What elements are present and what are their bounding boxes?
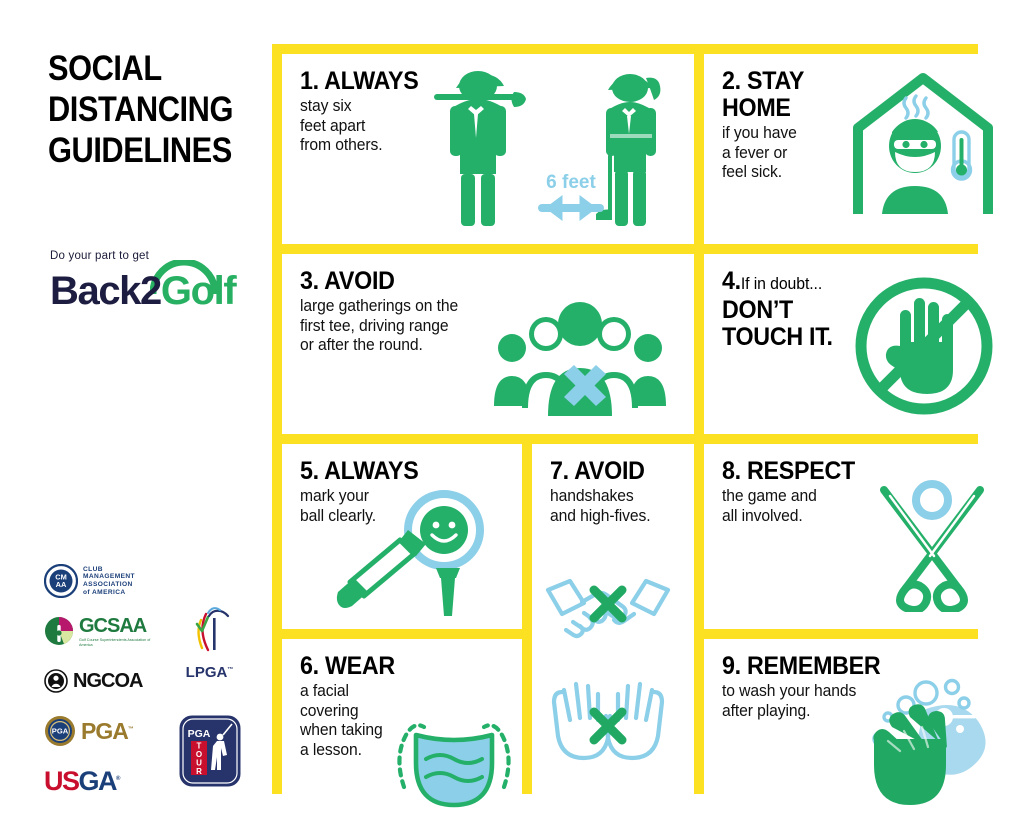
panel-4-heading-line-1: DON’T [722,297,833,324]
panel-9-remember-to-wash-your-hands: 9. REMEMBER to wash your hands after pla… [704,639,1008,834]
svg-text:R: R [196,767,202,776]
gcsaa-mark-icon [44,616,74,646]
usga-name-part2: GA [79,766,117,796]
panel-3-heading: 3. AVOID [300,268,455,295]
panel-8-heading: 8. RESPECT [722,458,855,485]
logo-gcsaa: GCSAA Golf Course Superintendents Associ… [44,612,162,650]
panel-3-body-line-1: large gatherings on the [300,297,458,317]
panel-2-body-line-2: a fever or [722,144,806,164]
lpga-golfer-icon [182,602,238,658]
panel-8-body-line-1: the game and [722,487,858,507]
page-title: SOCIAL DISTANCING GUIDELINES [48,48,242,171]
brand-word-dark: Back2 [50,269,161,313]
page-title-line-1: SOCIAL [48,48,242,89]
no-high-five-icon [542,676,674,766]
pga-name: PGA™ [81,718,133,745]
cmaa-line-3: ASSOCIATION [83,581,135,589]
gcsaa-wordmark: GCSAA Golf Course Superintendents Associ… [79,615,162,648]
logo-rows: CM AA CLUB MANAGEMENT ASSOCIATION of AME… [44,562,259,812]
svg-text:AA: AA [56,580,67,589]
panel-1-body-line-2: feet apart [300,117,421,137]
lpga-trademark: ™ [227,667,233,673]
panel-7-text: 7. AVOID handshakes and high-fives. [550,458,656,526]
guidelines-grid: 1. ALWAYS stay six feet apart from other… [272,44,978,794]
panel-6-body-line-3: when taking [300,721,397,741]
brand-wordmark: Back2Golf [50,264,260,320]
panel-2-body: if you have a fever or feel sick. [722,124,806,183]
panel-4-text: 4.If in doubt... DON’T TOUCH IT. [722,268,841,351]
logo-column-left: CM AA CLUB MANAGEMENT ASSOCIATION of AME… [44,562,162,812]
panel-1-icon-label: 6 feet [546,172,596,193]
gcsaa-subtitle: Golf Course Superintendents Association … [79,638,162,648]
lpga-name: LPGA™ [182,664,238,681]
panel-2-heading: 2. STAY HOME [722,68,804,122]
panel-7-avoid-handshakes-and-high-fives: 7. AVOID handshakes and high-fives. [532,444,694,834]
panel-8-body-line-2: all involved. [722,507,858,527]
panel-6-body-line-2: covering [300,702,397,722]
svg-text:PGA: PGA [187,728,210,740]
logo-usga: USGA® [44,762,162,800]
panel-5-text: 5. ALWAYS mark your ball clearly. [300,458,427,526]
usga-wordmark: USGA® [44,766,119,797]
brand-word-green: Golf [161,269,235,313]
panel-1-always-stay-six-feet-apart: 1. ALWAYS stay six feet apart from other… [282,54,694,244]
panel-3-body-line-3: or after the round. [300,336,458,356]
face-mask-icon [390,683,518,813]
no-touch-hand-prohibition-icon [850,272,998,420]
house-sick-person-thermometer-icon [852,70,994,220]
panel-9-text: 9. REMEMBER to wash your hands after pla… [722,653,892,721]
panel-6-body-line-1: a facial [300,682,397,702]
gcsaa-name: GCSAA [79,615,162,638]
panel-9-body-line-2: after playing. [722,702,884,722]
panel-9-body: to wash your hands after playing. [722,682,884,721]
back2golf-brand-lockup: Do your part to get Back2Golf [50,250,260,320]
cmaa-wordmark: CLUB MANAGEMENT ASSOCIATION of AMERICA [83,566,135,596]
logo-pga: PGA PGA™ [44,712,162,750]
logo-lpga: LPGA™ [182,602,238,681]
panel-6-wear-a-facial-covering: 6. WEAR a facial covering when taking a … [282,639,522,834]
panel-4-dont-touch-it: 4.If in doubt... DON’T TOUCH IT. [704,254,1008,434]
cmaa-line-4: of AMERICA [83,589,135,597]
panel-5-body-line-1: mark your [300,487,421,507]
logo-cmaa: CM AA CLUB MANAGEMENT ASSOCIATION of AME… [44,562,162,600]
panel-9-body-line-1: to wash your hands [722,682,884,702]
panel-4-heading: 4.If in doubt... DON’T TOUCH IT. [722,268,833,351]
panel-6-heading: 6. WEAR [300,653,395,680]
panel-3-body: large gatherings on the first tee, drivi… [300,297,458,356]
usga-name-part1: US [44,766,79,796]
panel-6-body-line-4: a lesson. [300,741,397,761]
pga-trademark: ™ [128,726,133,732]
panel-2-heading-line-2: HOME [722,95,804,122]
page-title-line-2: DISTANCING [48,89,242,130]
panel-3-avoid-large-gatherings: 3. AVOID large gatherings on the first t… [282,254,694,434]
no-handshake-icon [542,562,674,646]
panel-7-heading: 7. AVOID [550,458,648,485]
panel-8-respect-the-game: 8. RESPECT the game and all involved. [704,444,1008,629]
panel-1-text: 1. ALWAYS stay six feet apart from other… [300,68,427,156]
panel-6-text: 6. WEAR a facial covering when taking a … [300,653,402,760]
panel-2-stay-home-if-sick: 2. STAY HOME if you have a fever or feel… [704,54,1008,244]
cmaa-line-2: MANAGEMENT [83,573,135,581]
crowd-group-no-gathering-icon [494,296,666,416]
page-title-line-3: GUIDELINES [48,130,242,171]
cmaa-line-1: CLUB [83,566,135,574]
cmaa-seal-icon: CM AA [44,564,78,598]
partner-logos: CM AA CLUB MANAGEMENT ASSOCIATION of AME… [44,562,259,812]
panel-9-heading: 9. REMEMBER [722,653,880,680]
pga-seal-icon: PGA [44,715,76,747]
panel-3-text: 3. AVOID large gatherings on the first t… [300,268,467,356]
panel-7-body: handshakes and high-fives. [550,487,651,526]
panel-1-body: stay six feet apart from others. [300,97,421,156]
panel-5-heading: 5. ALWAYS [300,458,419,485]
panel-8-body: the game and all involved. [722,487,858,526]
pga-name-text: PGA [81,718,128,744]
panel-2-heading-line-1: 2. STAY [722,68,804,95]
panel-6-body: a facial covering when taking a lesson. [300,682,397,760]
panel-5-body-line-2: ball clearly. [300,507,421,527]
panel-4-heading-number: 4. [722,268,741,295]
crossed-golf-clubs-ball-icon [870,472,994,612]
pga-tour-badge-icon: PGA T O U R [179,715,241,787]
usga-registered-mark: ® [116,776,119,782]
left-column: SOCIAL DISTANCING GUIDELINES Do your par… [0,0,270,838]
logo-pga-tour: PGA T O U R [179,715,241,792]
logo-ngcoa: NGCOA [44,662,162,700]
thermometer-icon [953,132,971,179]
panel-7-body-line-2: and high-fives. [550,507,651,527]
panel-5-always-mark-your-ball: 5. ALWAYS mark your ball clearly. [282,444,522,629]
panel-8-text: 8. RESPECT the game and all involved. [722,458,865,526]
ngcoa-name: NGCOA [73,670,142,693]
panel-7-body-line-1: handshakes [550,487,651,507]
brand-word: Back2Golf [50,268,235,314]
lpga-name-text: LPGA [186,664,228,681]
panel-1-body-line-1: stay six [300,97,421,117]
panel-2-body-line-3: feel sick. [722,163,806,183]
svg-text:PGA: PGA [52,727,69,736]
two-golfers-distance-icon: 6 feet [410,62,672,230]
panel-4-heading-line-2: TOUCH IT. [722,324,833,351]
ngcoa-mark-icon [44,669,68,693]
panel-5-body: mark your ball clearly. [300,487,421,526]
logo-column-right: LPGA™ PGA T O U R [162,582,257,792]
panel-1-heading: 1. ALWAYS [300,68,419,95]
panel-2-text: 2. STAY HOME if you have a fever or feel… [722,68,810,183]
panel-1-body-line-3: from others. [300,136,421,156]
panel-3-body-line-2: first tee, driving range [300,317,458,337]
panel-2-body-line-1: if you have [722,124,806,144]
panel-4-heading-regular: If in doubt... [741,270,822,297]
